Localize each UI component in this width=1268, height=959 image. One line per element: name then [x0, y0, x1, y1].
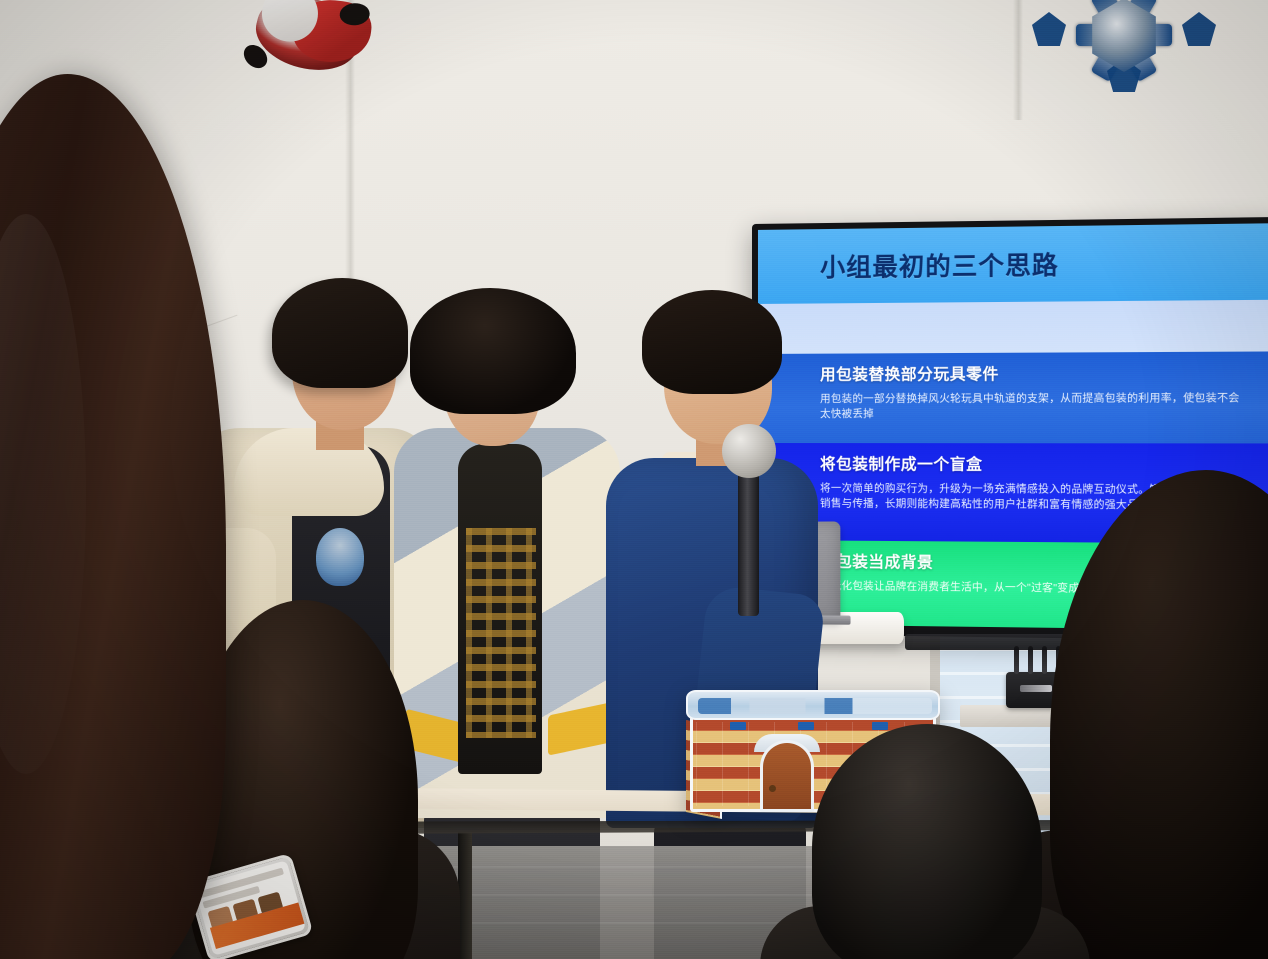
presenter-left-shirt-graphic — [316, 528, 364, 586]
presenter-speaking — [600, 290, 810, 910]
slide-spacer-band — [758, 299, 1268, 354]
presenter-middle-hair — [410, 288, 576, 414]
slide-section-1: 用包装替换部分玩具零件 用包装的一部分替换掉风火轮玩具中轨道的支架，从而提高包装… — [758, 351, 1268, 443]
microphone-foam-windscreen — [722, 424, 776, 478]
prototype-box-lid — [686, 690, 940, 720]
slide-section-1-heading: 用包装替换部分玩具零件 — [820, 361, 1250, 385]
prototype-door — [760, 740, 814, 812]
prototype-window-accent — [798, 722, 814, 730]
presenter-middle-shirt-graphic — [466, 528, 536, 738]
microphone-body — [738, 470, 759, 616]
snowflake-tip — [1182, 12, 1216, 46]
snowflake-ornament-icon — [1018, 0, 1230, 110]
presentation-photo-scene: 小组最初的三个思路 用包装替换部分玩具零件 用包装的一部分替换掉风火轮玩具中轨道… — [0, 0, 1268, 959]
slide-section-1-body: 用包装的一部分替换掉风火轮玩具中轨道的支架，从而提高包装的利用率，使包装不会太快… — [820, 391, 1250, 422]
slide-title-band: 小组最初的三个思路 — [758, 223, 1268, 303]
handheld-microphone — [722, 424, 778, 614]
snowflake-tip — [1032, 12, 1066, 46]
prototype-door-knob — [769, 785, 776, 792]
presenter-speaking-hair — [642, 290, 782, 394]
prototype-window-accent — [730, 722, 746, 730]
prototype-window-accent — [872, 722, 888, 730]
hair-highlight — [0, 214, 86, 774]
prototype-lid-artwork — [698, 698, 932, 714]
slide-title: 小组最初的三个思路 — [820, 245, 1059, 284]
audience-center-head — [812, 724, 1042, 959]
presenter-left-hair — [272, 278, 408, 388]
table-leg — [458, 832, 472, 959]
